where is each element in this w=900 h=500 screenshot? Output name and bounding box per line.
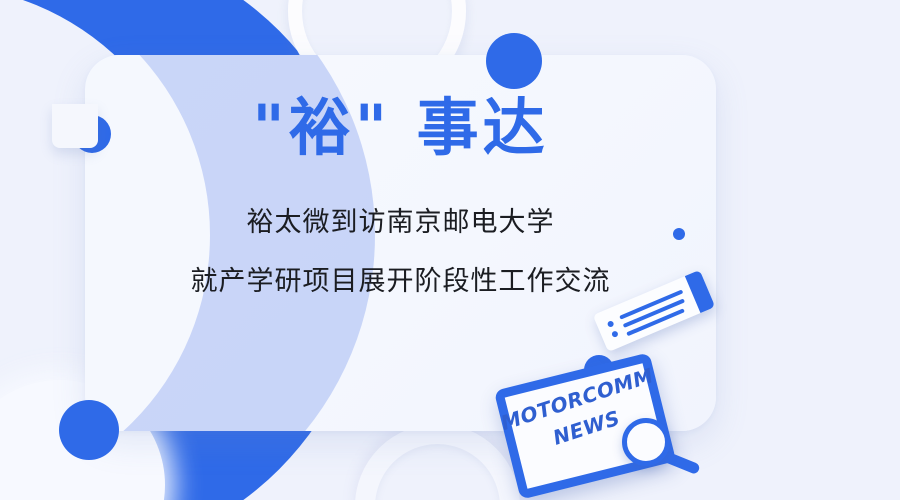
headline-block: "裕" 事达 裕太微到访南京邮电大学 就产学研项目展开阶段性工作交流 [85, 95, 716, 298]
document-bullet-icon [607, 320, 615, 328]
blue-dot-top-icon [486, 33, 542, 89]
megaphone-stem [52, 104, 98, 148]
subtitle-line-1: 裕太微到访南京邮电大学 [85, 200, 716, 239]
blue-dot-bottom-icon [59, 400, 119, 460]
white-ring-bottom-icon [355, 424, 520, 500]
news-banner: "裕" 事达 裕太微到访南京邮电大学 就产学研项目展开阶段性工作交流 MOTOR… [0, 0, 900, 500]
magnifier-lens [622, 418, 670, 466]
page-title: "裕" 事达 [85, 95, 716, 160]
document-bullet-icon [611, 330, 619, 338]
subtitle-line-2: 就产学研项目展开阶段性工作交流 [85, 259, 716, 298]
